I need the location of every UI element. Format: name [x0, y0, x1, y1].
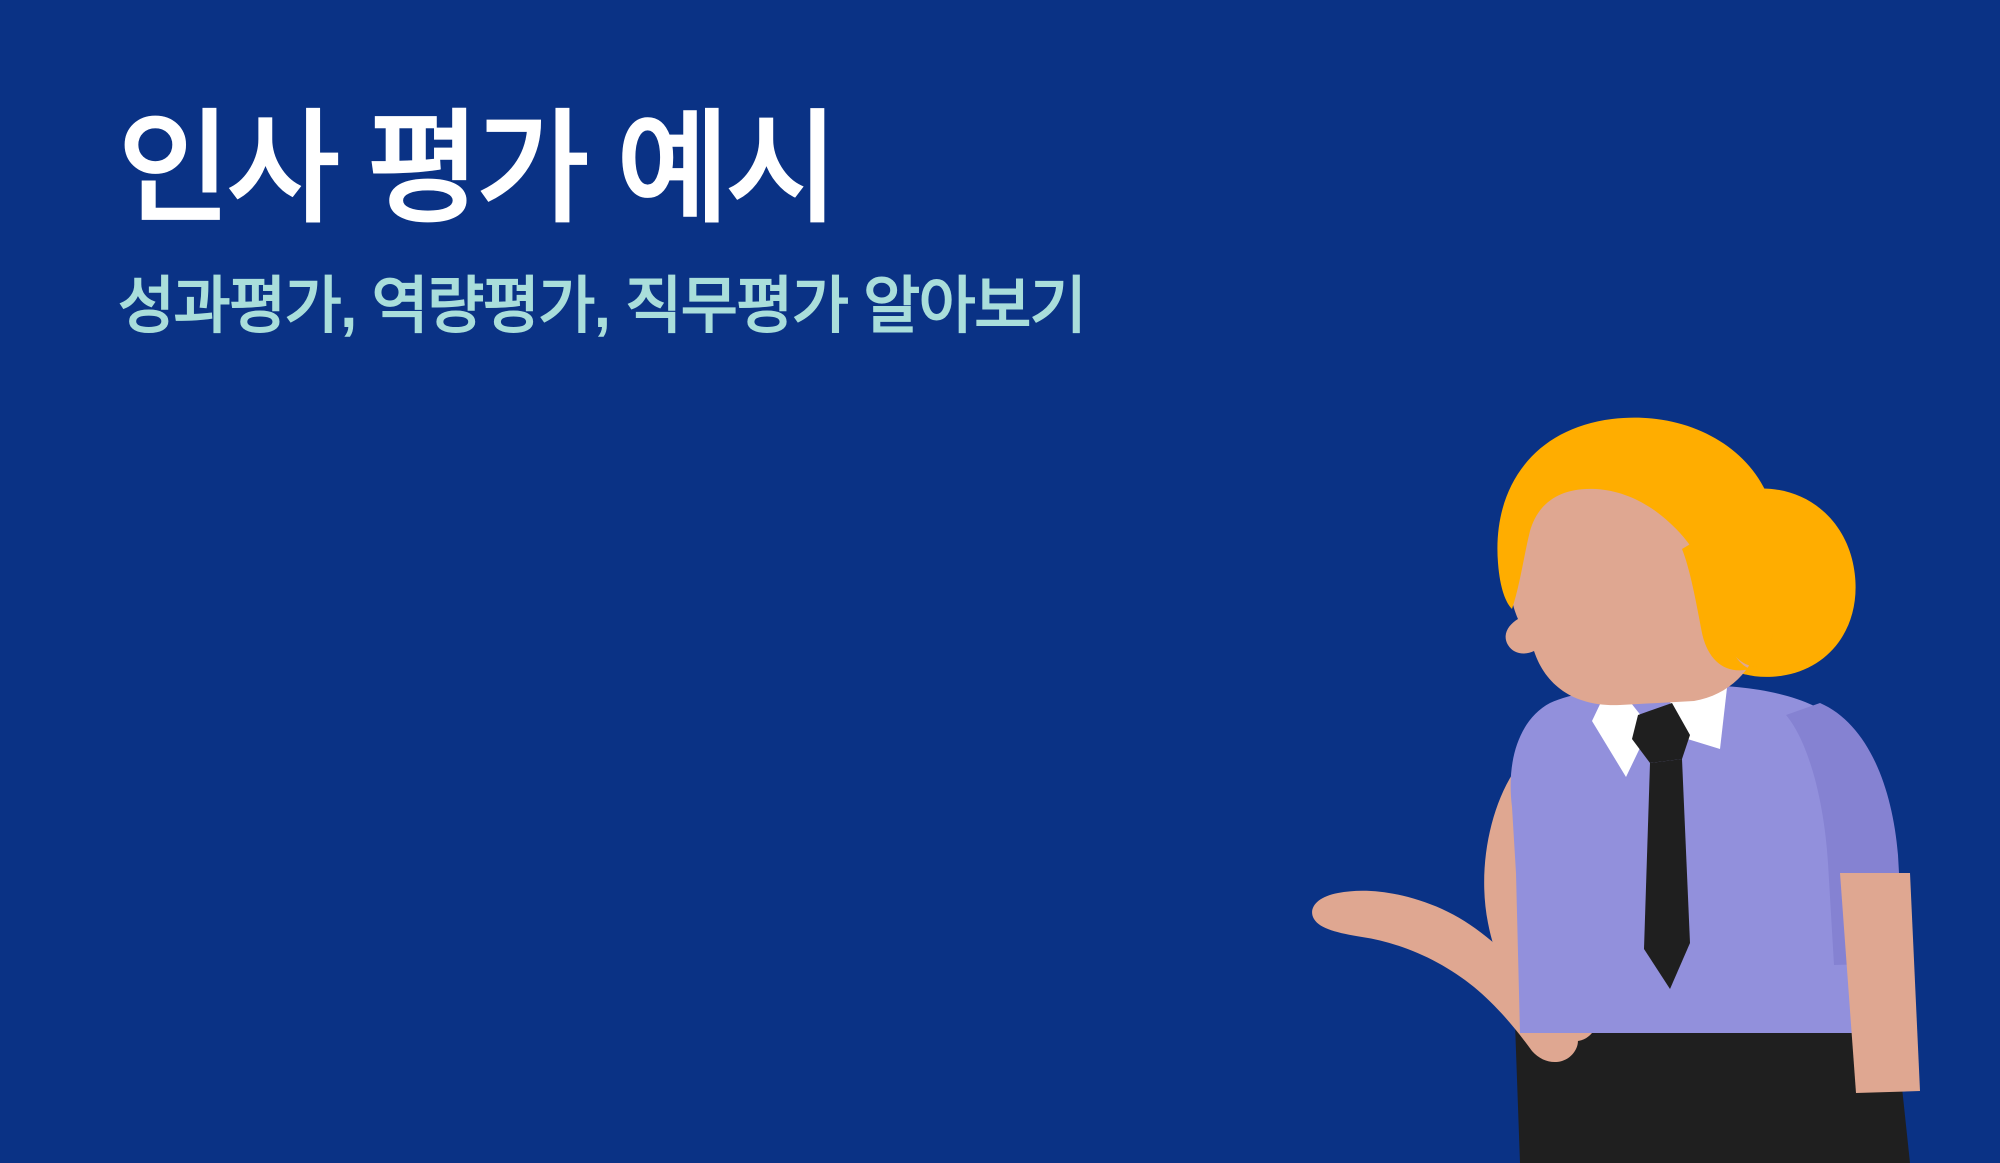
- businesswoman-presenting-illustration: [1220, 403, 2000, 1163]
- slide-text-block: 인사 평가 예시 성과평가, 역량평가, 직무평가 알아보기: [118, 104, 1318, 341]
- page-title: 인사 평가 예시: [118, 104, 1318, 236]
- slide-canvas: 인사 평가 예시 성과평가, 역량평가, 직무평가 알아보기: [0, 0, 2000, 1163]
- page-subtitle: 성과평가, 역량평가, 직무평가 알아보기: [118, 236, 1318, 341]
